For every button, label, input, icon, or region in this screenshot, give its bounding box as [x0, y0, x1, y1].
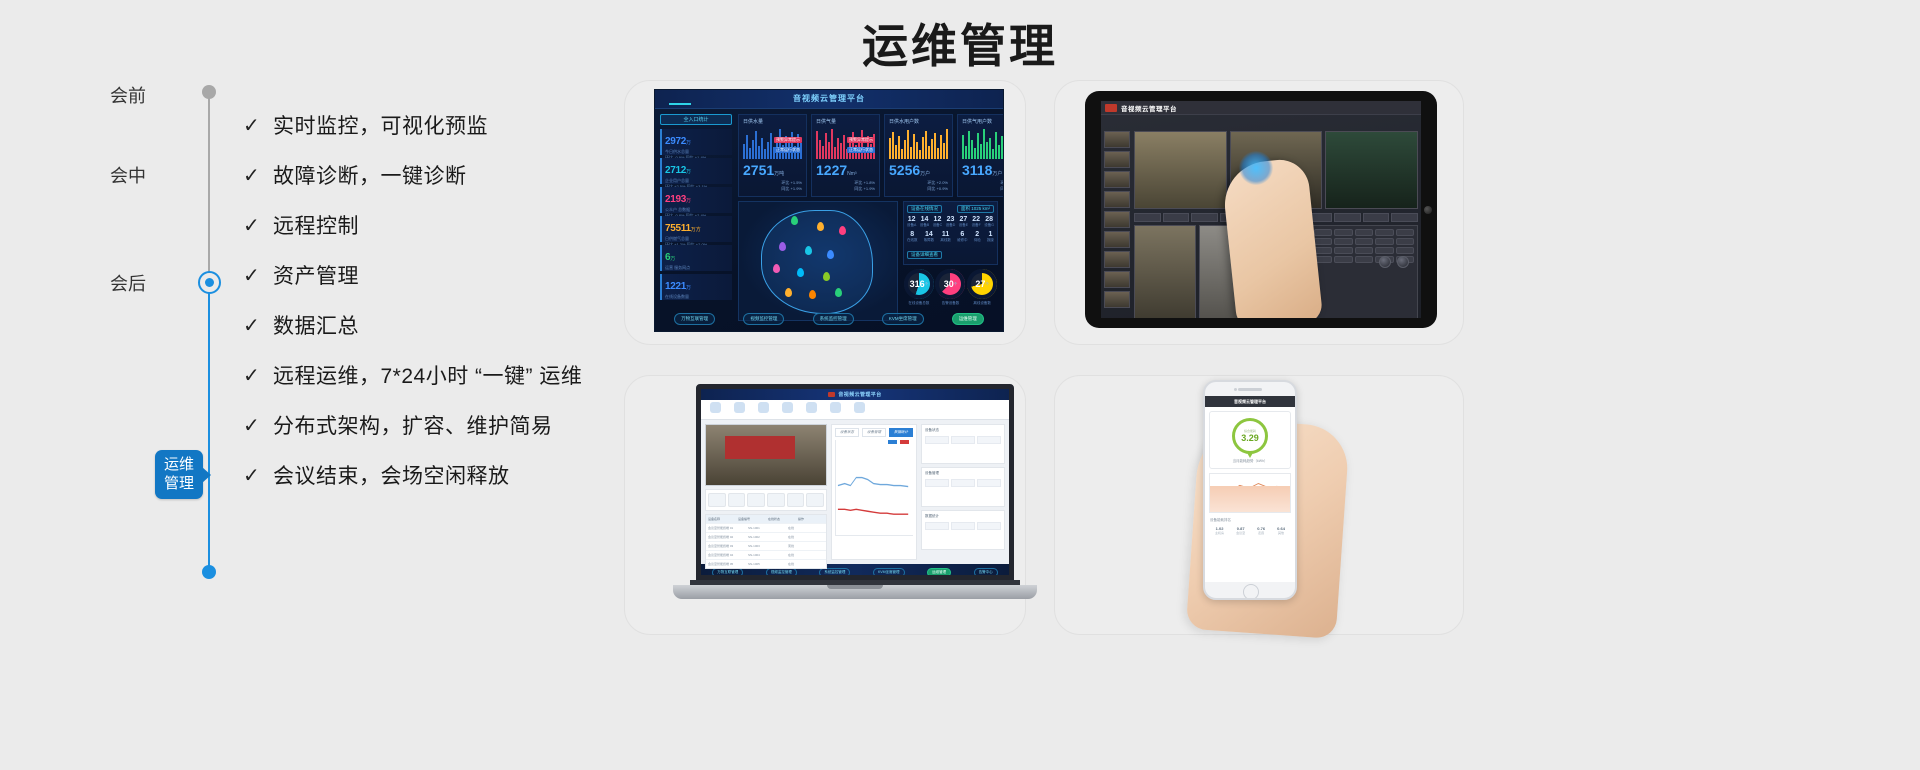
timeline-stage-post[interactable]: 会后	[40, 270, 170, 296]
bar	[746, 135, 748, 159]
camera-thumbnail[interactable]	[1104, 231, 1130, 248]
console-key[interactable]	[1355, 247, 1374, 254]
chart-delta: 环比 +1.3%同比 +1.5%	[1000, 180, 1003, 192]
map-pin[interactable]	[773, 264, 780, 273]
table-body: 会议室智能终端 01SN-1001在线会议室智能终端 02SN-1002在线会议…	[706, 523, 826, 568]
device-icon[interactable]	[787, 493, 805, 507]
summary-card-body	[925, 479, 1001, 487]
laptop-nav-button[interactable]: 运维管理	[927, 568, 951, 577]
stat-value: 2972	[665, 136, 686, 147]
summary-card[interactable]: 设备状态	[921, 424, 1005, 464]
feature-label: 远程控制	[273, 210, 359, 240]
bar	[895, 145, 897, 159]
bar	[904, 140, 906, 159]
cell	[951, 479, 975, 487]
dashboard-right-column: 设备在线情况 面积 1025 km² 12设备A14设备B12设备C23设备D2…	[903, 201, 998, 321]
check-icon: ✓	[243, 113, 273, 138]
bar	[831, 129, 833, 159]
brand-logo-icon	[1105, 104, 1117, 112]
table-cell: 会议室智能终端 03	[706, 542, 746, 550]
energy-stat-row: 1.02主机房0.87会议室0.76走廊0.64其他	[1209, 526, 1291, 535]
cell	[925, 522, 949, 530]
video-screen-area	[725, 436, 795, 459]
badge-warning: 预警异常提示	[847, 137, 875, 143]
timeline-stage-during[interactable]: 会中	[40, 162, 170, 188]
stat-card[interactable]: 75511万方 日供燃气总量 环比 +1.2% 同比 +2.0%	[660, 216, 732, 242]
console-key[interactable]	[1375, 229, 1394, 236]
ranking-section-label: 设备能耗排名	[1210, 518, 1295, 523]
console-key[interactable]	[1334, 247, 1353, 254]
device-stat-label: 设备G	[984, 223, 994, 228]
chart-delta: 环比 +1.5%同比 +1.9%	[781, 180, 802, 192]
device-icon-row[interactable]	[705, 489, 827, 511]
table-row[interactable]: 会议室智能终端 04SN-1004在线	[706, 550, 826, 559]
bar	[980, 144, 982, 159]
bar	[767, 142, 769, 159]
toolbar-item[interactable]	[827, 402, 843, 417]
tab-strip[interactable]: 设备状态设备管理数据统计	[835, 428, 913, 437]
list-item: ✓ 分布式架构，扩容、维护简易	[243, 400, 623, 450]
front-camera-icon	[1234, 388, 1237, 391]
chart-number: 1227	[816, 162, 847, 178]
timeline-line-lower	[208, 281, 210, 571]
dashboard-top-charts: 日供水量 预警异常提示 正常运行状态 2751万吨 环比 +1.5%同比 +1.…	[738, 114, 998, 197]
table-cell: 离线	[786, 542, 826, 550]
device-stat-value: 27	[959, 216, 968, 223]
laptop-nav-button[interactable]: 万物互联管理	[712, 568, 743, 577]
gauge[interactable]: 30 个 告警设备数	[935, 269, 965, 306]
device-status-title: 设备在线情况	[907, 205, 942, 213]
dashboard-gauges: 316 个 在线设备总数 30 个 告警设备数	[903, 269, 998, 306]
device-stat-value: 1	[987, 231, 994, 238]
list-item: ✓ 数据汇总	[243, 300, 623, 350]
summary-card-title: 设备管理	[925, 471, 1001, 476]
bar	[843, 135, 845, 159]
energy-stat-label: 主机房	[1215, 531, 1224, 535]
device-stat: 11离线数	[940, 231, 951, 243]
device-icon[interactable]	[767, 493, 785, 507]
device-stat: 2待检	[974, 231, 981, 243]
stat-card[interactable]: 2193万 公众户 总数据 环比 -0.8% 同比 +2.4%	[660, 187, 732, 213]
bar	[770, 133, 772, 159]
bar	[977, 133, 979, 159]
cell	[925, 479, 949, 487]
check-icon: ✓	[243, 213, 273, 238]
control-button[interactable]	[1191, 213, 1218, 222]
console-knob[interactable]	[1379, 256, 1391, 268]
bar	[919, 150, 921, 159]
dashboard-nav-button[interactable]: 视频监控管理	[743, 313, 784, 325]
camera-thumbnail[interactable]	[1104, 271, 1130, 288]
energy-section-label: 当月能耗趋势（kWh）	[1214, 459, 1286, 464]
panel-tablet: 音视频云管理平台	[1054, 80, 1464, 345]
toolbar-item[interactable]	[851, 402, 867, 417]
control-button[interactable]	[1163, 213, 1190, 222]
bar	[779, 129, 781, 159]
chart-unit: 万吨	[774, 171, 784, 177]
console-key[interactable]	[1355, 229, 1374, 236]
device-stat-value: 28	[984, 216, 994, 223]
device-stat-label: 在线数	[907, 238, 918, 243]
map-pin[interactable]	[797, 268, 804, 277]
chart-unit: 万户	[992, 171, 1002, 177]
table-cell: 在线	[786, 524, 826, 532]
speaker-grille-icon	[1238, 388, 1262, 391]
video-tile-map[interactable]	[1325, 131, 1418, 209]
device-stat: 1报废	[987, 231, 994, 243]
summary-card[interactable]: 数据统计	[921, 510, 1005, 550]
table-cell: 在线	[786, 560, 826, 568]
device-stat: 8在线数	[907, 231, 918, 243]
device-stat-label: 设备F	[972, 223, 981, 228]
stat-value: 2712	[665, 165, 686, 176]
tablet-app-title: 音视频云管理平台	[1121, 103, 1177, 113]
bar-series	[889, 129, 948, 159]
device-stat-label: 设备B	[920, 223, 929, 228]
table-row[interactable]: 会议室智能终端 03SN-1003离线	[706, 541, 826, 550]
device-stat-value: 8	[907, 231, 918, 238]
cell	[951, 436, 975, 444]
laptop-columns: 设备名称设备编号在线状态操作 会议室智能终端 01SN-1001在线会议室智能终…	[701, 420, 1009, 564]
summary-card-title: 设备状态	[925, 428, 1001, 433]
laptop-app-title: 音视频云管理平台	[838, 391, 881, 398]
device-icon[interactable]	[708, 493, 726, 507]
device-stat-label: 设备D	[946, 223, 956, 228]
phone-navbar: 音视频云管理平台	[1205, 396, 1295, 407]
timeline-dot-end	[202, 565, 216, 579]
table-cell: 在线	[786, 551, 826, 559]
device-icon[interactable]	[806, 493, 824, 507]
timeline-stage-pre[interactable]: 会前	[40, 82, 170, 108]
console-key[interactable]	[1334, 229, 1353, 236]
list-item: ✓ 远程运维，7*24小时 “一键” 运维	[243, 350, 623, 400]
cell	[977, 436, 1001, 444]
table-cell: SN-1005	[746, 560, 786, 568]
laptop-nav-button[interactable]: 视频监控管理	[766, 568, 797, 577]
brand-logo-icon	[828, 392, 835, 397]
laptop-col-left: 设备名称设备编号在线状态操作 会议室智能终端 01SN-1001在线会议室智能终…	[705, 424, 827, 560]
check-icon: ✓	[243, 263, 273, 288]
console-key[interactable]	[1314, 238, 1333, 245]
dashboard-title: 音视频云管理平台	[655, 93, 1003, 104]
device-stat: 14故障数	[924, 231, 935, 243]
dashboard-nav-button[interactable]: 万物互联管理	[674, 313, 715, 325]
table-cell: 会议室智能终端 04	[706, 551, 746, 559]
dashboard-left-button[interactable]: 全入口统计	[660, 114, 732, 125]
tab-0[interactable]: 设备状态	[835, 428, 859, 437]
console-key[interactable]	[1355, 256, 1374, 263]
bar	[816, 131, 818, 159]
toolbar-item[interactable]	[731, 402, 747, 417]
console-knob[interactable]	[1397, 256, 1409, 268]
summary-card-body	[925, 436, 1001, 444]
feature-list: ✓ 实时监控，可视化预监 ✓ 故障诊断，一键诊断 ✓ 远程控制 ✓ 资产管理 ✓…	[243, 100, 623, 500]
phone-earpiece-area	[1205, 382, 1295, 396]
map-pin[interactable]	[809, 290, 816, 299]
device-icon[interactable]	[747, 493, 765, 507]
console-key[interactable]	[1355, 238, 1374, 245]
map-pin[interactable]	[839, 226, 846, 235]
dashboard-nav-button[interactable]: KVM坐席管理	[882, 313, 924, 325]
dashboard-header: 音视频云管理平台	[655, 90, 1003, 109]
gauge-unit: 个	[985, 282, 989, 287]
device-stat-value: 14	[924, 231, 935, 238]
stat-value: 1221	[665, 281, 686, 292]
area-fill	[1210, 486, 1290, 512]
list-item: ✓ 故障诊断，一键诊断	[243, 150, 623, 200]
device-icon[interactable]	[728, 493, 746, 507]
toolbar-item[interactable]	[707, 402, 723, 417]
laptop-toolbar[interactable]	[701, 400, 1009, 420]
table-column-header: 操作	[796, 515, 826, 523]
control-button[interactable]	[1134, 213, 1161, 222]
device-stat-label: 设备C	[933, 223, 943, 228]
laptop-device: 音视频云管理平台 设备名称设备编号在线状态操作 会议室智能终端 01SN-100…	[673, 384, 1037, 614]
gauge-unit: 个	[925, 282, 929, 287]
mini-chart-card[interactable]: 日供水量 预警异常提示 正常运行状态 2751万吨 环比 +1.5%同比 +1.…	[738, 114, 807, 197]
stat-card[interactable]: 6万 运营 服务网点	[660, 245, 732, 271]
console-key[interactable]	[1396, 247, 1415, 254]
mini-chart-card[interactable]: 日供气量 预警异常提示 正常运行状态 1227Nm³ 环比 +1.8%同比 +1…	[811, 114, 880, 197]
laptop-nav-button[interactable]: 系统监控管理	[819, 568, 850, 577]
dashboard-screen: 音视频云管理平台 全入口统计 2972万 今日供水总量 环比 -0.9% 同比 …	[655, 90, 1003, 331]
stat-card[interactable]: 2712万 企业用户总量 环比 +2.5% 同比 +3.1%	[660, 158, 732, 184]
timeline	[198, 85, 222, 585]
gauge[interactable]: 316 个 在线设备总数	[904, 269, 934, 306]
gauge-ring: 27 个	[967, 269, 997, 299]
toolbar-item[interactable]	[779, 402, 795, 417]
stat-value: 75511	[665, 223, 691, 234]
cell	[977, 522, 1001, 530]
map-pin[interactable]	[779, 242, 786, 251]
tab-1[interactable]: 设备管理	[862, 428, 886, 437]
map-pin[interactable]	[817, 222, 824, 231]
feature-label: 故障诊断，一键诊断	[273, 160, 467, 190]
tablet-screen: 音视频云管理平台	[1101, 101, 1421, 318]
bar	[828, 142, 830, 159]
energy-card[interactable]: 综合能耗 3.29 当月能耗趋势（kWh）	[1209, 411, 1291, 469]
bar	[937, 148, 939, 159]
feature-label: 数据汇总	[273, 310, 359, 340]
phone-in-hand: 音视频云管理平台 综合能耗 3.29 当月能耗趋势（kWh）	[1175, 380, 1345, 634]
list-item: ✓ 远程控制	[243, 200, 623, 250]
bar	[901, 149, 903, 159]
stat-card[interactable]: 1221万 在线设备数量	[660, 274, 732, 300]
video-tile[interactable]	[1134, 131, 1227, 209]
stat-unit: 万	[686, 285, 691, 291]
console-key[interactable]	[1375, 247, 1394, 254]
gauge-value: 27	[975, 279, 985, 289]
tab-2[interactable]: 数据统计	[889, 428, 913, 437]
laptop-nav-button[interactable]: KVM坐席管理	[873, 568, 905, 577]
table-column-header: 设备名称	[706, 515, 736, 523]
camera-thumbnail[interactable]	[1104, 251, 1130, 268]
timeline-badge[interactable]: 运维 管理	[155, 450, 203, 499]
panel-laptop: 音视频云管理平台 设备名称设备编号在线状态操作 会议室智能终端 01SN-100…	[624, 375, 1026, 635]
map-pin[interactable]	[785, 288, 792, 297]
console-key[interactable]	[1334, 256, 1353, 263]
bar	[749, 148, 751, 159]
check-icon: ✓	[243, 313, 273, 338]
touch-ripple-icon	[1239, 151, 1273, 185]
table-cell: 在线	[786, 533, 826, 541]
dashboard-nav-button[interactable]: 系统监控管理	[813, 313, 854, 325]
device-stat: 28设备G	[984, 216, 994, 228]
energy-stat: 0.87会议室	[1236, 526, 1245, 535]
camera-thumbnail[interactable]	[1104, 131, 1130, 148]
summary-card[interactable]: 设备管理	[921, 467, 1005, 507]
control-button[interactable]	[1334, 213, 1361, 222]
timeline-dot-active[interactable]	[198, 271, 221, 294]
map-pin[interactable]	[835, 288, 842, 297]
device-stat-value: 11	[940, 231, 951, 238]
device-stat-value: 2	[974, 231, 981, 238]
laptop-app: 设备名称设备编号在线状态操作 会议室智能终端 01SN-1001在线会议室智能终…	[701, 400, 1009, 564]
bar	[940, 135, 942, 159]
bar	[998, 145, 1000, 159]
toolbar-icon	[806, 402, 817, 413]
tablet-camera-strip[interactable]	[1104, 131, 1130, 311]
map-pin[interactable]	[805, 246, 812, 255]
map-pin[interactable]	[791, 216, 798, 225]
mini-chart-card[interactable]: 日供气用户数 3118万户 环比 +1.3%同比 +1.5%	[957, 114, 1003, 197]
gauge-label: 告警设备数	[935, 301, 965, 306]
console-key[interactable]	[1396, 229, 1415, 236]
table-cell: 会议室智能终端 02	[706, 533, 746, 541]
table-cell: 会议室智能终端 05	[706, 560, 746, 568]
hand-illustration	[1221, 157, 1324, 318]
timeline-badge-line2: 管理	[164, 475, 194, 492]
camera-thumbnail[interactable]	[1104, 151, 1130, 168]
device-stat-value: 6	[957, 231, 968, 238]
bar	[898, 136, 900, 159]
slide-root: 运维管理 会前 会中 会后 运维 管理 ✓ 实时监控，可视化预监 ✓ 故障诊断，…	[0, 0, 1920, 770]
device-detail-button[interactable]: 设备详细查看	[907, 251, 942, 259]
control-button[interactable]	[1391, 213, 1418, 222]
bar	[986, 142, 988, 159]
toolbar-item[interactable]	[803, 402, 819, 417]
laptop-nav-button[interactable]: 告警中心	[974, 568, 998, 577]
summary-card-body	[925, 522, 1001, 530]
legend-swatch-blue	[888, 440, 897, 444]
bar-series	[962, 129, 1003, 159]
cell	[977, 479, 1001, 487]
bar	[965, 146, 967, 159]
camera-thumbnail[interactable]	[1104, 191, 1130, 208]
tablet-titlebar: 音视频云管理平台	[1101, 101, 1421, 115]
device-stat-label: 报废	[987, 238, 994, 243]
table-row[interactable]: 会议室智能终端 01SN-1001在线	[706, 523, 826, 532]
table-cell: 会议室智能终端 01	[706, 524, 746, 532]
bar	[834, 147, 836, 159]
camera-thumbnail[interactable]	[1104, 291, 1130, 308]
feature-label: 会议结束，会场空闲释放	[273, 460, 510, 490]
energy-stat: 0.76走廊	[1257, 526, 1265, 535]
toolbar-icon	[710, 402, 721, 413]
phone-screen: 音视频云管理平台 综合能耗 3.29 当月能耗趋势（kWh）	[1205, 396, 1295, 582]
bar	[974, 148, 976, 159]
dashboard-map[interactable]	[738, 201, 898, 321]
stat-card[interactable]: 2972万 今日供水总量 环比 -0.9% 同比 +1.4%	[660, 129, 732, 155]
console-key[interactable]	[1334, 238, 1353, 245]
feature-label: 实时监控，可视化预监	[273, 110, 488, 140]
camera-thumbnail[interactable]	[1104, 171, 1130, 188]
console-key[interactable]	[1375, 238, 1394, 245]
meeting-room-video[interactable]	[705, 424, 827, 486]
bar	[752, 140, 754, 159]
chart-label: 日供气量	[816, 118, 875, 125]
device-status-box[interactable]: 设备在线情况 面积 1025 km² 12设备A14设备B12设备C23设备D2…	[903, 201, 998, 265]
table-row[interactable]: 会议室智能终端 02SN-1002在线	[706, 532, 826, 541]
mini-chart-card[interactable]: 日供水用户数 5256万户 环比 +2.0%同比 +0.9%	[884, 114, 953, 197]
bar	[825, 133, 827, 159]
device-stat-label: 故障数	[924, 238, 935, 243]
chart-number: 3118	[962, 162, 992, 178]
bar	[889, 138, 891, 159]
toolbar-icon	[734, 402, 745, 413]
chart-label: 日供水量	[743, 118, 802, 125]
energy-trend-chart	[1209, 473, 1291, 513]
chart-delta: 环比 +1.8%同比 +1.9%	[854, 180, 875, 192]
bar	[910, 147, 912, 159]
gauge[interactable]: 27 个 离线设备数	[967, 269, 997, 306]
map-pin[interactable]	[823, 272, 830, 281]
device-stat: 6维修中	[957, 231, 968, 243]
dashboard-body: 全入口统计 2972万 今日供水总量 环比 -0.9% 同比 +1.4% 271…	[655, 109, 1003, 331]
tablet-device: 音视频云管理平台	[1085, 91, 1437, 328]
video-tile[interactable]	[1134, 225, 1196, 318]
laptop-col-right: 设备状态 设备管理 数据统计	[921, 424, 1005, 560]
device-stat: 23设备D	[946, 216, 956, 228]
device-table[interactable]: 设备名称设备编号在线状态操作 会议室智能终端 01SN-1001在线会议室智能终…	[705, 514, 827, 569]
check-icon: ✓	[243, 363, 273, 388]
console-key[interactable]	[1314, 229, 1333, 236]
bar	[1001, 136, 1003, 159]
table-row[interactable]: 会议室智能终端 05SN-1005在线	[706, 559, 826, 568]
table-column-header: 在线状态	[766, 515, 796, 523]
camera-thumbnail[interactable]	[1104, 211, 1130, 228]
chart-value: 5256万户	[889, 163, 948, 181]
bar	[761, 138, 763, 159]
device-stat: 12设备A	[907, 216, 916, 228]
table-cell: SN-1003	[746, 542, 786, 550]
gauge-value: 316	[910, 279, 925, 289]
console-key[interactable]	[1396, 238, 1415, 245]
map-pin[interactable]	[827, 250, 834, 259]
chart-unit: Nm³	[847, 171, 856, 177]
device-stat-label: 维修中	[957, 238, 968, 243]
stat-unit: 万	[686, 198, 691, 204]
list-item: ✓ 会议结束，会场空闲释放	[243, 450, 623, 500]
chart-value: 2751万吨	[743, 163, 802, 181]
dashboard-footer-nav: 万物互联管理视频监控管理系统监控管理KVM坐席管理运维管理	[660, 310, 998, 328]
device-stat-label: 离线数	[940, 238, 951, 243]
toolbar-item[interactable]	[755, 402, 771, 417]
laptop-titlebar: 音视频云管理平台	[701, 389, 1009, 400]
bar	[968, 131, 970, 159]
trend-chart	[835, 440, 913, 536]
device-stat-label: 设备E	[959, 223, 968, 228]
device-row-2: 8在线数14故障数11离线数6维修中2待检1报废	[907, 231, 994, 243]
phone-home-button[interactable]	[1205, 582, 1295, 600]
dashboard-nav-button[interactable]: 运维管理	[952, 313, 984, 325]
bar	[925, 131, 927, 159]
control-button[interactable]	[1363, 213, 1390, 222]
device-stat: 27设备E	[959, 216, 968, 228]
table-header-row: 设备名称设备编号在线状态操作	[706, 515, 826, 523]
device-stat-value: 12	[907, 216, 916, 223]
bar	[922, 137, 924, 159]
